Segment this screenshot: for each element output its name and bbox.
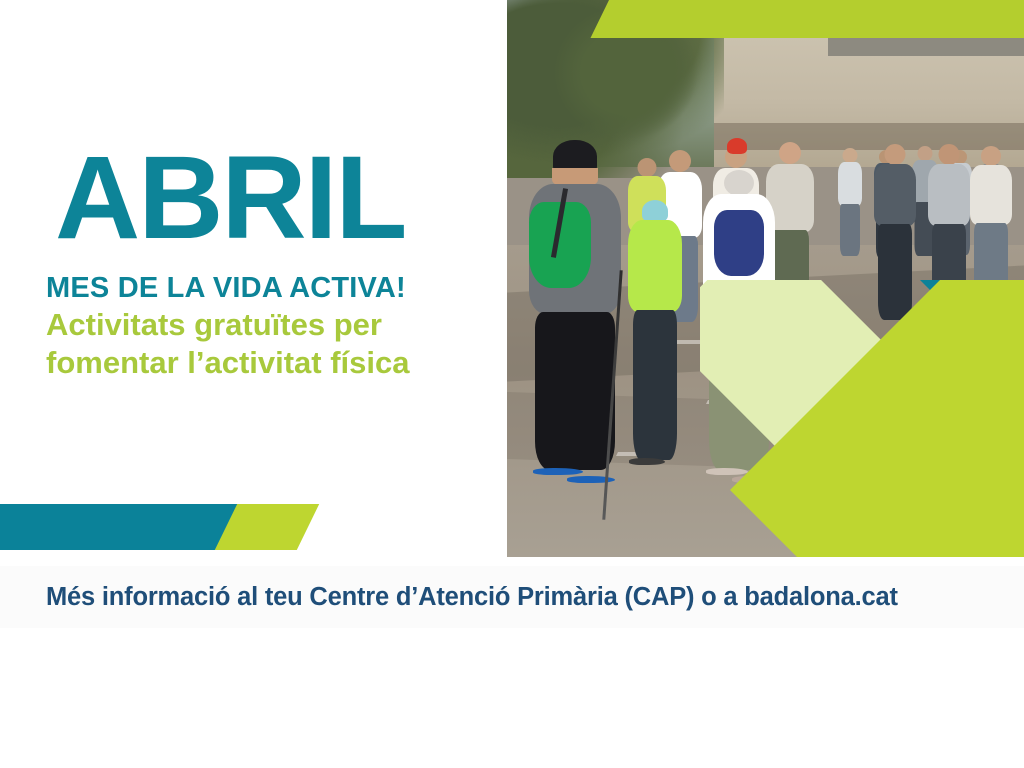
info-bar-text: Més informació al teu Centre d’Atenció P…: [46, 583, 898, 612]
corner-chevron-graphic: [700, 280, 1024, 557]
poster-canvas: ABRIL MES DE LA VIDA ACTIVA! Activitats …: [0, 0, 1024, 768]
subtitle: MES DE LA VIDA ACTIVA!: [46, 272, 406, 305]
foreground-walker-3: [627, 200, 683, 490]
info-bar: Més informació al teu Centre d’Atenció P…: [0, 566, 1024, 628]
crowd-figure: [837, 148, 863, 266]
page-title: ABRIL: [55, 148, 406, 249]
green-accent-top: [590, 0, 1024, 38]
teal-accent-bar: [0, 504, 251, 550]
tagline: Activitats gratuïtes per fomentar l’acti…: [46, 306, 476, 382]
footer: Ho organitza: Hi col·labora: Entitats es…: [0, 640, 1024, 768]
crowd-figure-cap: [722, 138, 752, 168]
